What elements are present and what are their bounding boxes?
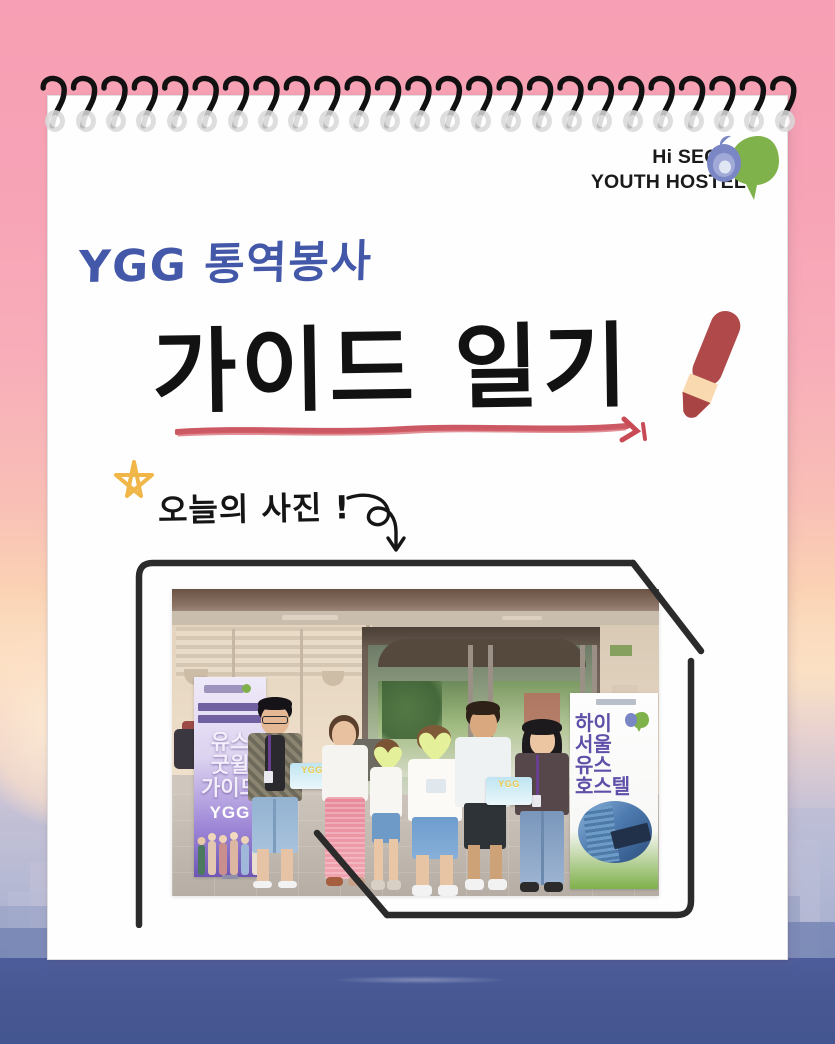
hi-seoul-youth-hostel-logo: Hi SEOUL YOUTH HOSTEL	[588, 134, 780, 214]
page-title-guide-diary: 가이드 일기	[151, 292, 632, 432]
photo-frame-sketch	[125, 533, 705, 928]
ground-reflection	[330, 976, 510, 984]
todays-photo-label: 오늘의 사진 !	[158, 482, 351, 531]
ground-plane	[0, 958, 835, 1044]
curly-arrow-down-right-icon	[344, 490, 414, 558]
star-icon	[110, 458, 158, 506]
title-underline-stroke	[175, 415, 650, 449]
pencil-icon	[655, 300, 765, 428]
speech-bubble-logo-icon	[700, 134, 780, 208]
subtitle-ygg-volunteer: YGG 통역봉사	[78, 225, 374, 295]
